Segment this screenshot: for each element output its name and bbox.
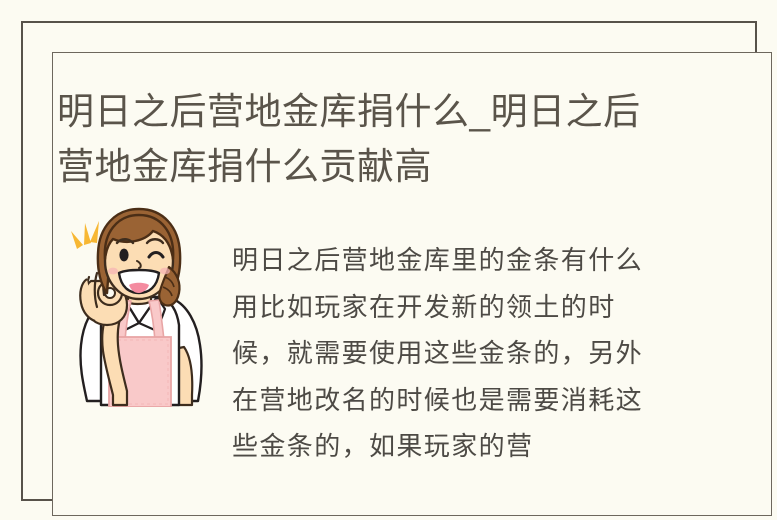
page-title: 明日之后营地金库捐什么_明日之后营地金库捐什么贡献高 (57, 84, 669, 194)
sparkle-icon (71, 221, 99, 249)
article-body-text: 明日之后营地金库里的金条有什么用比如玩家在开发新的领土的时候，就需要使用这些金条… (232, 238, 652, 471)
page-root: 明日之后营地金库捐什么_明日之后营地金库捐什么贡献高 (0, 0, 777, 520)
article-content: 明日之后营地金库里的金条有什么用比如玩家在开发新的领土的时候，就需要使用这些金条… (57, 200, 657, 430)
illustration-smiling-woman-ok-gesture (61, 205, 213, 407)
eye-open (119, 249, 128, 262)
woman-ok-gesture-icon (61, 205, 213, 407)
